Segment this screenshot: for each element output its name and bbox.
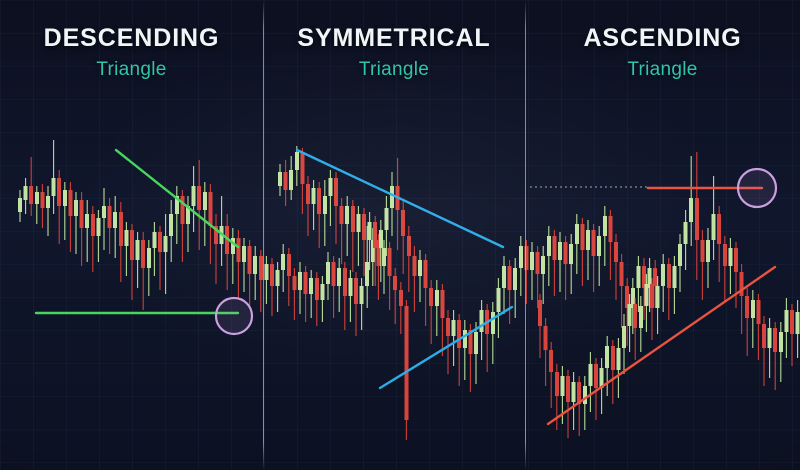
panel-ascending: ASCENDING Triangle bbox=[525, 0, 800, 470]
panel-ascending-header: ASCENDING Triangle bbox=[525, 0, 800, 79]
panel-symmetrical-title: SYMMETRICAL bbox=[263, 26, 525, 51]
panel-symmetrical-subtitle: Triangle bbox=[263, 60, 525, 79]
chart-pattern-infographic: DESCENDING Triangle SYMMETRICAL Triangle… bbox=[0, 0, 800, 470]
panel-descending-header: DESCENDING Triangle bbox=[0, 0, 263, 79]
panel-symmetrical: SYMMETRICAL Triangle bbox=[263, 0, 525, 470]
panel-ascending-title: ASCENDING bbox=[525, 26, 800, 51]
panel-descending-subtitle: Triangle bbox=[0, 60, 263, 79]
panel-descending-title: DESCENDING bbox=[0, 26, 263, 51]
panel-symmetrical-header: SYMMETRICAL Triangle bbox=[263, 0, 525, 79]
panel-ascending-subtitle: Triangle bbox=[525, 60, 800, 79]
panel-descending: DESCENDING Triangle bbox=[0, 0, 263, 470]
